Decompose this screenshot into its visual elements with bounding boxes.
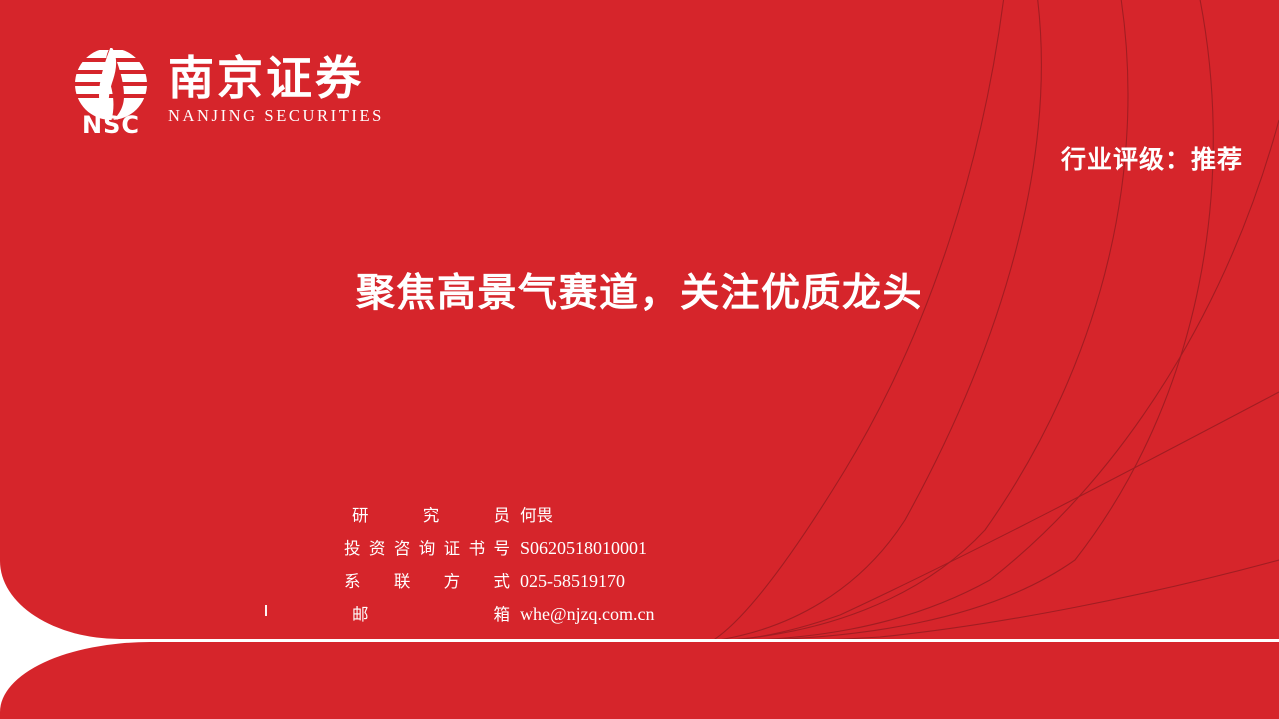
main-red-panel: NSC 南京证券 NANJING SECURITIES 行业评级：推荐 聚焦高景… <box>0 0 1279 639</box>
contact-value-email: whe@njzq.com.cn <box>520 604 655 625</box>
text-caret-artifact <box>265 605 267 616</box>
contact-value-phone: 025-58519170 <box>520 571 625 592</box>
contact-value-license: S0620518010001 <box>520 538 647 559</box>
presentation-cover-slide: NSC 南京证券 NANJING SECURITIES 行业评级：推荐 聚焦高景… <box>0 0 1279 719</box>
nsc-globe-mark-icon: NSC <box>68 46 154 134</box>
logo-wordmark: 南京证券 NANJING SECURITIES <box>168 54 384 125</box>
contact-info-block: 研究员 何畏 投资咨询证书号 S0620518010001 系联方式 025-5… <box>352 502 692 634</box>
industry-rating-label: 行业评级：推荐 <box>1061 140 1243 176</box>
contact-row-phone: 系联方式 025-58519170 <box>352 568 692 601</box>
slide-title: 聚焦高景气赛道，关注优质龙头 <box>0 262 1279 318</box>
contact-label-email: 邮箱 <box>352 601 510 625</box>
contact-row-analyst: 研究员 何畏 <box>352 502 692 535</box>
company-logo: NSC 南京证券 NANJING SECURITIES <box>68 46 384 134</box>
contact-label-license: 投资咨询证书号 <box>344 535 510 559</box>
bottom-red-bar <box>0 642 1279 719</box>
contact-value-analyst: 何畏 <box>520 502 553 526</box>
logo-company-name-cn: 南京证券 <box>168 54 384 102</box>
svg-text:NSC: NSC <box>82 111 140 134</box>
contact-label-phone: 系联方式 <box>344 568 510 592</box>
contact-label-analyst: 研究员 <box>352 502 510 526</box>
contact-row-license: 投资咨询证书号 S0620518010001 <box>352 535 692 568</box>
contact-row-email: 邮箱 whe@njzq.com.cn <box>352 601 692 634</box>
logo-company-name-en: NANJING SECURITIES <box>168 106 384 126</box>
